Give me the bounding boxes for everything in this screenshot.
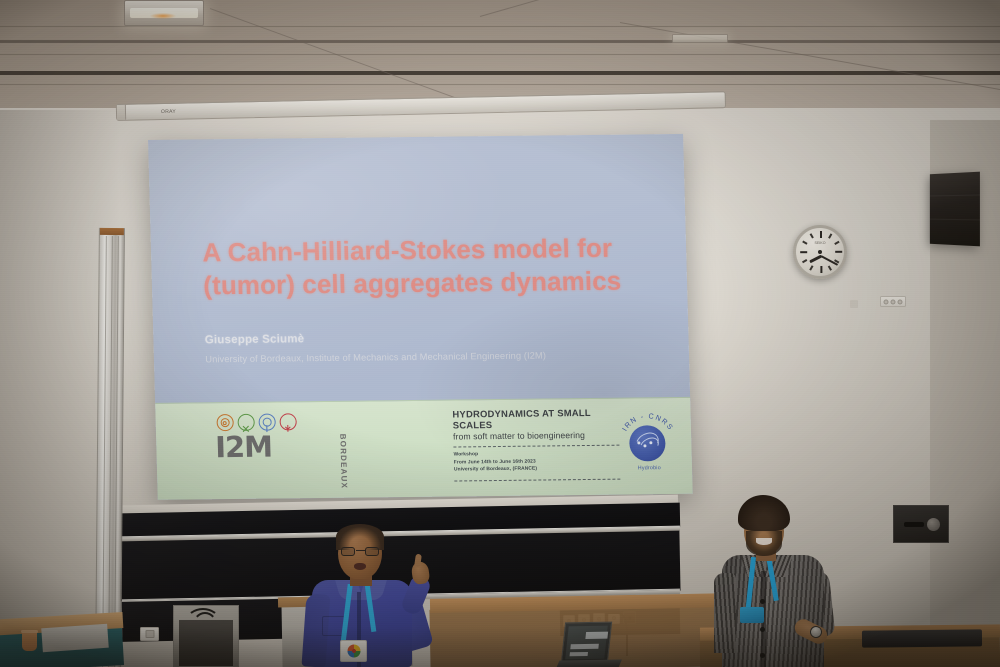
wall-clock: SEIKO [793, 225, 847, 279]
slide-title-line-1: A Cahn-Hilliard-Stokes model for [202, 231, 652, 269]
safe-dial-icon[interactable] [927, 518, 940, 531]
i2m-icon-orange [216, 414, 233, 431]
workshop-subheading: from soft matter to bioengineering [453, 430, 619, 442]
ceiling-light-fixture [124, 0, 204, 26]
wall-safe[interactable] [893, 505, 949, 543]
workshop-info: HYDRODYNAMICS AT SMALL SCALES from soft … [452, 406, 620, 481]
projection-screen[interactable]: A Cahn-Hilliard-Stokes model for (tumor)… [148, 134, 693, 500]
workshop-divider-top [453, 445, 619, 448]
i2m-logo-icons [216, 413, 343, 431]
wall-outlet-right-upper[interactable] [880, 296, 906, 307]
attendee [706, 495, 846, 667]
slide-title-line-2: (tumor) cell aggregates dynamics [203, 265, 653, 303]
i2m-icon-red [279, 414, 296, 431]
irn-cnrs-logo: IRN - CNRS Hydrobio [617, 407, 681, 470]
slide-title: A Cahn-Hilliard-Stokes model for (tumor)… [202, 231, 653, 303]
cnrs-caption: Hydrobio [618, 465, 680, 472]
laptop[interactable] [561, 622, 612, 664]
conference-room-photo: ORAY A Cahn-Hilliard-Stokes model for (t… [0, 0, 1000, 667]
slide-affiliation: University of Bordeaux, Institute of Mec… [205, 350, 546, 364]
wall-track-rail [95, 228, 125, 667]
i2m-icon-green [237, 414, 254, 431]
attendee-badge [740, 607, 764, 623]
laptop-base [556, 659, 622, 667]
slide-footer-banner: I2M BORDEAUX HYDRODYNAMICS AT SMALL SCAL… [155, 397, 693, 500]
workshop-detail-3: University of Bordeaux, (FRANCE) [454, 465, 620, 474]
laptop-screen [565, 626, 608, 660]
badge-logo-icon [347, 645, 360, 658]
attendee-left-arm [714, 573, 736, 653]
workshop-heading: HYDRODYNAMICS AT SMALL SCALES [452, 406, 618, 430]
av-device[interactable] [862, 629, 982, 647]
presenter-badge [340, 640, 367, 662]
slide-author: Giuseppe Sciumè [205, 333, 305, 346]
presenter [296, 518, 446, 667]
i2m-wordmark: I2M [215, 432, 344, 462]
equipment-cabinet[interactable] [173, 605, 239, 667]
projected-slide: A Cahn-Hilliard-Stokes model for (tumor)… [148, 134, 693, 500]
presenter-glasses [341, 547, 380, 556]
attendee-smile [756, 538, 772, 545]
roller-brand-label: ORAY [161, 109, 176, 115]
i2m-logo: I2M BORDEAUX [214, 413, 344, 488]
i2m-icon-blue [258, 414, 275, 431]
clock-center-pin [818, 250, 822, 254]
i2m-city-label: BORDEAUX [338, 434, 348, 489]
wall-speaker [930, 172, 980, 247]
attendee-hair [738, 495, 790, 531]
presenter-mouth [354, 563, 366, 570]
recessed-light-center [672, 34, 728, 43]
wall-mount-bracket [850, 300, 858, 308]
workshop-divider-bottom [454, 478, 620, 481]
wall-outlet-left[interactable] [140, 627, 159, 641]
coffee-cup[interactable] [22, 630, 37, 651]
paper-stack[interactable] [41, 624, 109, 653]
